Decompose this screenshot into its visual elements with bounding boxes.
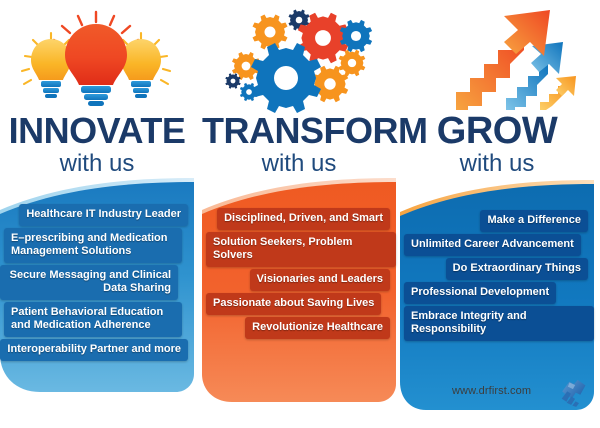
list-item[interactable]: Embrace Integrity and Responsibility bbox=[400, 306, 594, 341]
column-subheading: with us bbox=[400, 150, 594, 178]
list-item-label: Interoperability Partner and more bbox=[0, 339, 188, 361]
list-item[interactable]: Interoperability Partner and more bbox=[0, 339, 194, 361]
rising-arrows-icon bbox=[400, 6, 594, 118]
list-item-label: Do Extraordinary Things bbox=[446, 258, 588, 280]
list-item[interactable]: Do Extraordinary Things bbox=[400, 258, 594, 280]
lightbulbs-icon bbox=[0, 6, 194, 118]
panel-innovate: Healthcare IT Industry Leader E–prescrib… bbox=[0, 178, 194, 398]
item-list-innovate: Healthcare IT Industry Leader E–prescrib… bbox=[0, 204, 194, 363]
list-item-label: Healthcare IT Industry Leader bbox=[19, 204, 188, 226]
list-item[interactable]: Unlimited Career Advancement bbox=[400, 234, 594, 256]
list-item-label: Visionaries and Leaders bbox=[250, 269, 390, 291]
list-item[interactable]: Secure Messaging and Clinical Data Shari… bbox=[0, 265, 194, 300]
list-item[interactable]: Patient Behavioral Education and Medicat… bbox=[0, 302, 194, 337]
list-item-label: E–prescribing and Medication Management … bbox=[4, 228, 182, 263]
column-heading: INNOVATE bbox=[0, 112, 194, 150]
column-innovate: INNOVATE with us bbox=[0, 0, 194, 428]
list-item-label: Solution Seekers, Problem Solvers bbox=[206, 232, 396, 267]
website-url[interactable]: www.drfirst.com bbox=[452, 385, 531, 397]
column-subheading: with us bbox=[0, 150, 194, 178]
panel-transform: Disciplined, Driven, and Smart Solution … bbox=[202, 178, 396, 410]
handshake-logo[interactable] bbox=[556, 376, 592, 412]
item-list-transform: Disciplined, Driven, and Smart Solution … bbox=[202, 208, 396, 341]
list-item[interactable]: Professional Development bbox=[400, 282, 594, 304]
column-subheading: with us bbox=[202, 150, 396, 178]
list-item[interactable]: Passionate about Saving Lives bbox=[202, 293, 396, 315]
list-item[interactable]: Solution Seekers, Problem Solvers bbox=[202, 232, 396, 267]
gears-icon bbox=[202, 6, 396, 118]
item-list-grow: Make a Difference Unlimited Career Advan… bbox=[400, 210, 594, 343]
infographic-poster: INNOVATE with us bbox=[0, 0, 600, 428]
list-item-label: Revolutionize Healthcare bbox=[245, 317, 390, 339]
list-item[interactable]: Make a Difference bbox=[400, 210, 594, 232]
list-item-label: Professional Development bbox=[404, 282, 556, 304]
list-item-label: Patient Behavioral Education and Medicat… bbox=[4, 302, 182, 337]
heading-block-innovate: INNOVATE with us bbox=[0, 112, 194, 178]
list-item-label: Secure Messaging and Clinical Data Shari… bbox=[0, 265, 178, 300]
heading-block-transform: TRANSFORM with us bbox=[202, 112, 396, 178]
list-item[interactable]: Disciplined, Driven, and Smart bbox=[202, 208, 396, 230]
list-item-label: Disciplined, Driven, and Smart bbox=[217, 208, 390, 230]
column-heading: GROW bbox=[400, 112, 594, 150]
list-item-label: Unlimited Career Advancement bbox=[404, 234, 581, 256]
list-item[interactable]: E–prescribing and Medication Management … bbox=[0, 228, 194, 263]
column-grow: GROW with us bbox=[400, 0, 594, 428]
list-item[interactable]: Healthcare IT Industry Leader bbox=[0, 204, 194, 226]
list-item-label: Passionate about Saving Lives bbox=[206, 293, 381, 315]
list-item-label: Embrace Integrity and Responsibility bbox=[404, 306, 594, 341]
column-heading: TRANSFORM bbox=[202, 112, 396, 150]
list-item[interactable]: Visionaries and Leaders bbox=[202, 269, 396, 291]
column-transform: TRANSFORM with us bbox=[202, 0, 396, 428]
list-item[interactable]: Revolutionize Healthcare bbox=[202, 317, 396, 339]
list-item-label: Make a Difference bbox=[480, 210, 588, 232]
heading-block-grow: GROW with us bbox=[400, 112, 594, 178]
